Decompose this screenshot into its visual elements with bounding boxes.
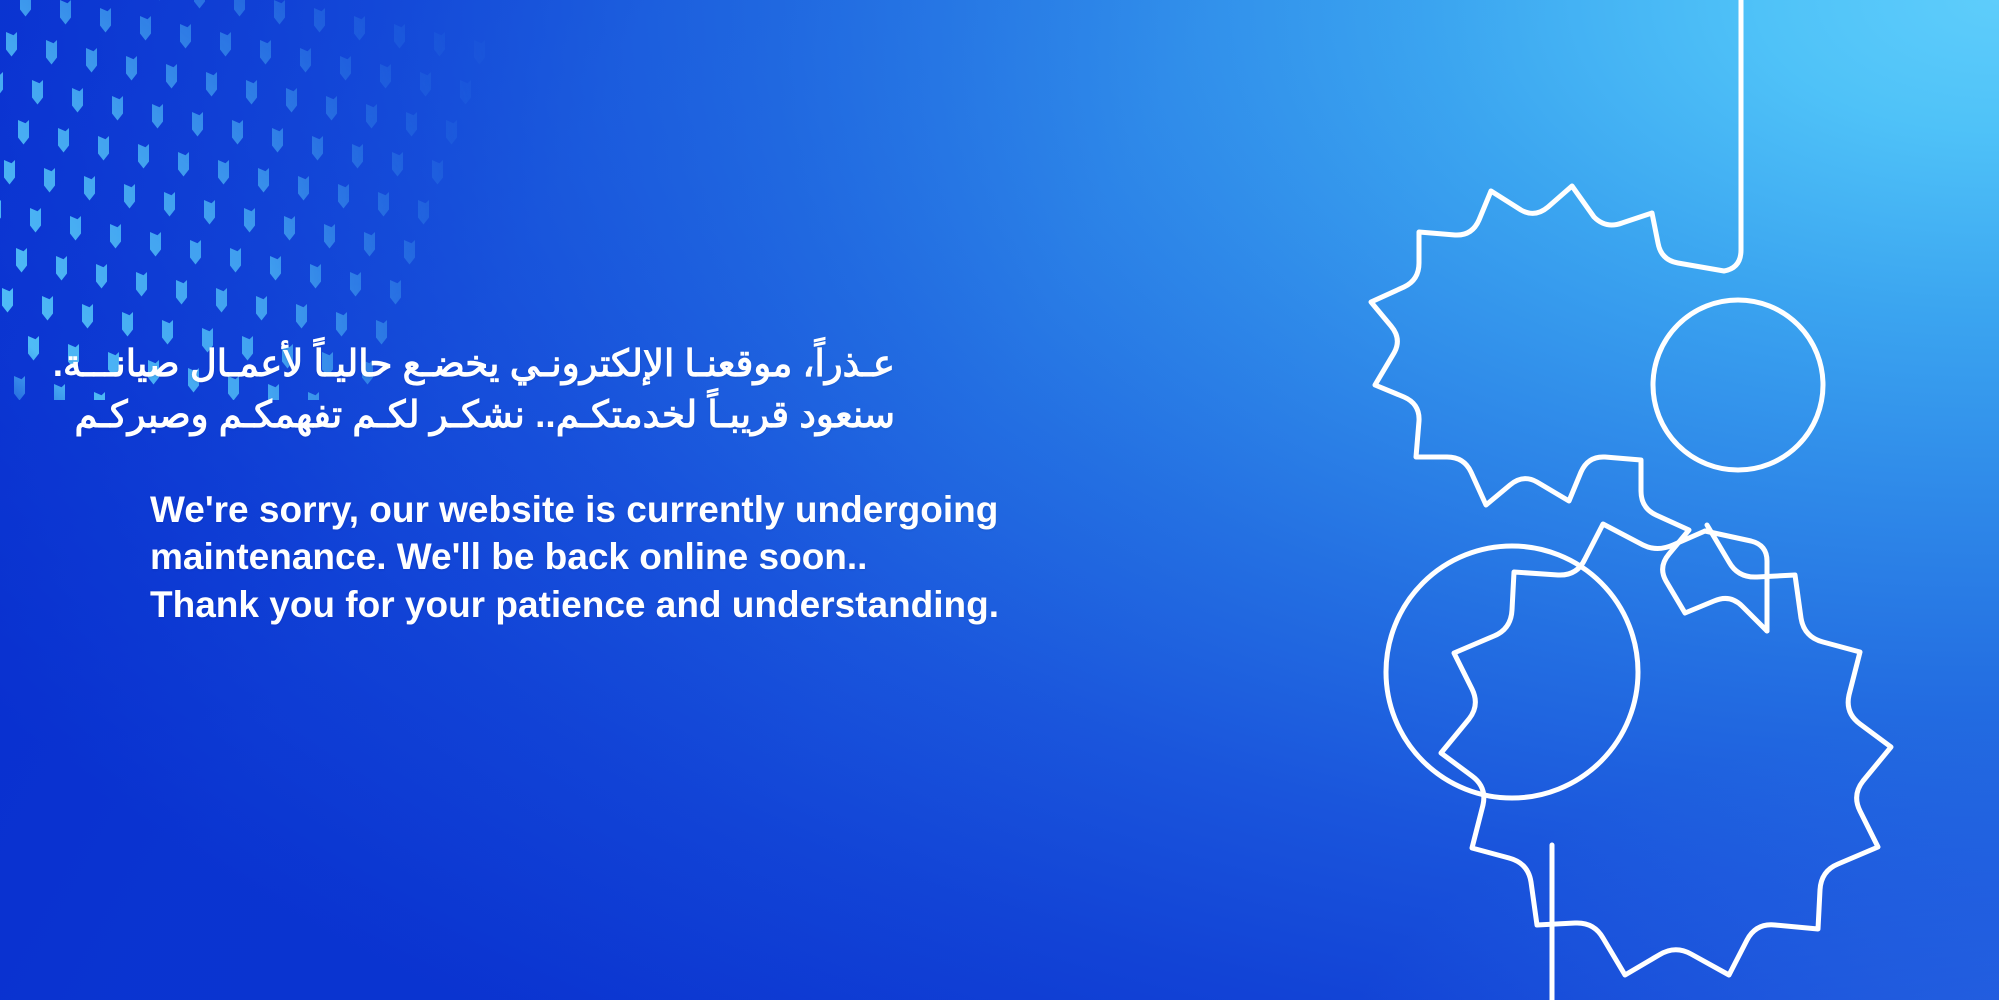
- maintenance-page: عـذراً، موقعنـا الإلكترونـي يخضـع حاليـا…: [0, 0, 1999, 1000]
- english-line-2: maintenance. We'll be back online soon..: [150, 533, 1170, 580]
- english-line-3: Thank you for your patience and understa…: [150, 581, 1170, 628]
- arabic-line-2: سنعود قريبـاً لخدمتكـم.. نشكـر لكـم تفهم…: [150, 389, 895, 440]
- arabic-line-1: عـذراً، موقعنـا الإلكترونـي يخضـع حاليـا…: [150, 338, 895, 389]
- english-line-1: We're sorry, our website is currently un…: [150, 486, 1170, 533]
- maintenance-message: عـذراً، موقعنـا الإلكترونـي يخضـع حاليـا…: [150, 338, 1170, 628]
- english-message: We're sorry, our website is currently un…: [150, 486, 1170, 628]
- arabic-message: عـذراً، موقعنـا الإلكترونـي يخضـع حاليـا…: [150, 338, 895, 440]
